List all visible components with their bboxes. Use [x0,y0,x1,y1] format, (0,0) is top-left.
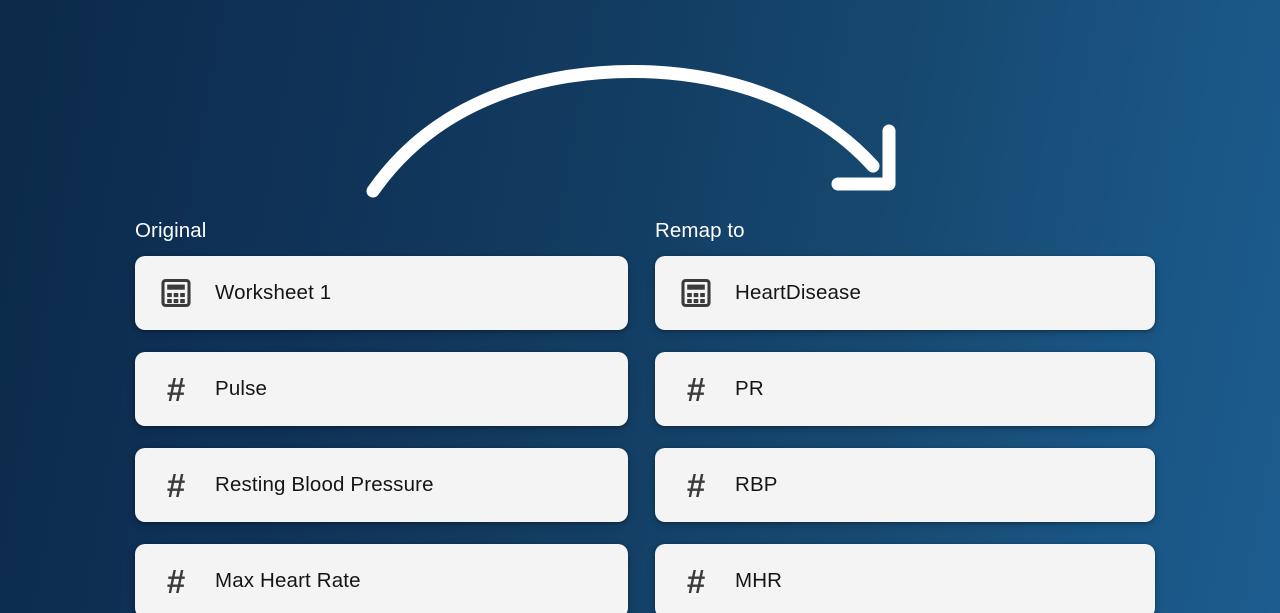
original-row-label: Worksheet 1 [215,281,331,305]
remap-row-label: MHR [735,569,782,593]
remap-column-header: Remap to [655,219,1155,243]
original-row-worksheet[interactable]: Worksheet 1 [135,256,628,330]
table-icon [159,276,193,310]
remap-row-mhr[interactable]: # MHR [655,544,1155,613]
hash-icon: # [159,468,193,502]
remap-row-label: PR [735,377,764,401]
remap-columns-screen: { "background": { "gradient_from": "#0c2… [0,0,1280,613]
column-container: Original Worksheet 1 [0,219,1280,613]
original-row-label: Resting Blood Pressure [215,473,434,497]
original-row-resting-blood-pressure[interactable]: # Resting Blood Pressure [135,448,628,522]
remap-row-label: RBP [735,473,778,497]
remap-row-rbp[interactable]: # RBP [655,448,1155,522]
table-icon [679,276,713,310]
hash-icon: # [679,372,713,406]
hash-icon: # [679,564,713,598]
hash-icon: # [159,372,193,406]
original-column-header: Original [135,219,628,243]
original-row-label: Pulse [215,377,267,401]
remap-row-pr[interactable]: # PR [655,352,1155,426]
remap-row-label: HeartDisease [735,281,861,305]
remap-column: Remap to HeartDisease [655,219,1155,613]
hash-icon: # [159,564,193,598]
original-row-max-heart-rate[interactable]: # Max Heart Rate [135,544,628,613]
original-row-label: Max Heart Rate [215,569,361,593]
original-column: Original Worksheet 1 [135,219,628,613]
arrow-arc [373,72,873,191]
original-row-pulse[interactable]: # Pulse [135,352,628,426]
hash-icon: # [679,468,713,502]
arrow-head [838,131,889,184]
original-card-list: Worksheet 1 # Pulse # Resting Blood Pres… [135,256,628,613]
remap-row-heartdisease[interactable]: HeartDisease [655,256,1155,330]
remap-card-list: HeartDisease # PR # RBP # MHR [655,256,1155,613]
